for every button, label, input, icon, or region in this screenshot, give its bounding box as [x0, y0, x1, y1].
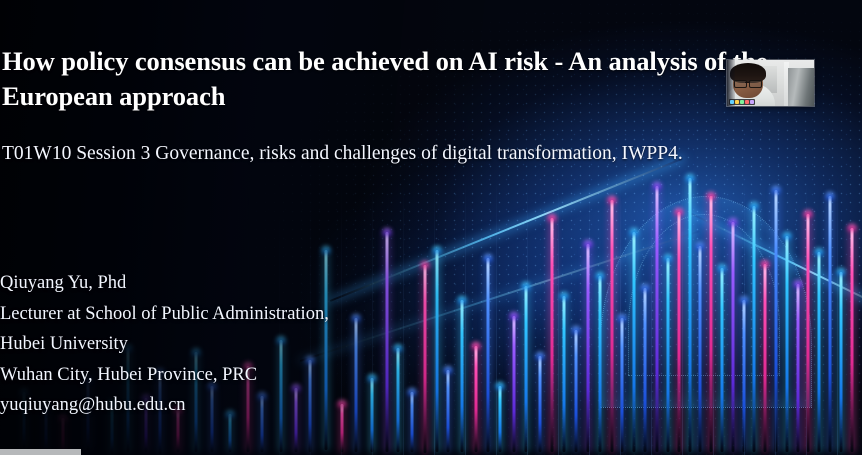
webcam-background-door — [788, 68, 814, 106]
more-icon[interactable] — [750, 100, 754, 104]
slide-subtitle: T01W10 Session 3 Governance, risks and c… — [2, 142, 858, 165]
affiliation-line: Hubei University — [0, 329, 520, 360]
share-icon[interactable] — [740, 100, 744, 104]
camera-icon[interactable] — [735, 100, 739, 104]
presentation-slide: How policy consensus can be achieved on … — [0, 0, 862, 455]
presenter-email: yuqiuyang@hubu.edu.cn — [0, 390, 520, 421]
presenter-affiliation-block: Qiuyang Yu, Phd Lecturer at School of Pu… — [0, 268, 520, 421]
webcam-toolbar[interactable] — [729, 99, 755, 105]
webcam-person-glasses — [734, 80, 762, 86]
affiliation-line: Wuhan City, Hubei Province, PRC — [0, 360, 520, 391]
webcam-pip[interactable] — [727, 60, 814, 106]
taskbar-sliver — [0, 449, 81, 455]
mic-icon[interactable] — [730, 100, 734, 104]
affiliation-line: Lecturer at School of Public Administrat… — [0, 299, 520, 330]
affiliation-line: Qiuyang Yu, Phd — [0, 268, 520, 299]
record-icon[interactable] — [745, 100, 749, 104]
